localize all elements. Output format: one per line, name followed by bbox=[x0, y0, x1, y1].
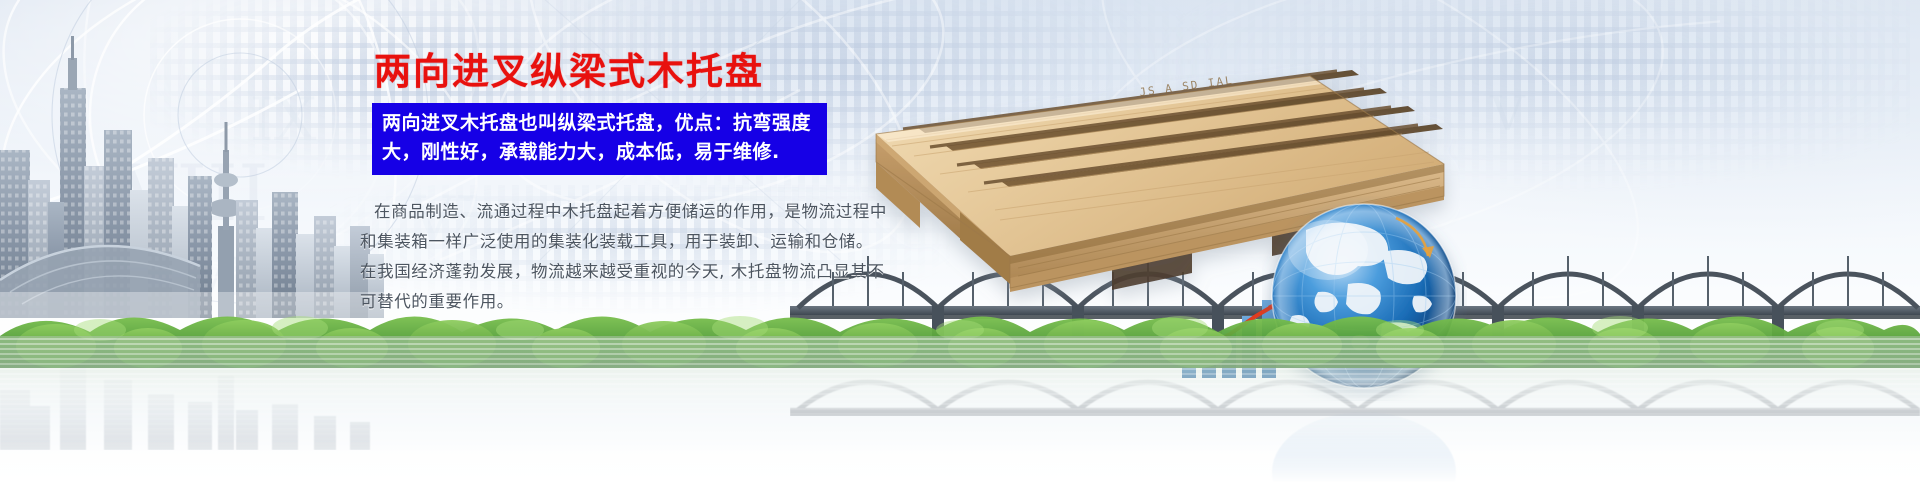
svg-text:V: V bbox=[1489, 86, 1526, 142]
product-banner: VIII IX VII VI IV bbox=[0, 0, 1920, 500]
highlight-line-2: 大，刚性好，承载能力大，成本低，易于维修. bbox=[382, 138, 817, 167]
body-line-2: 和集装箱一样广泛使用的集装化装载工具，用于装卸、运输和仓储。 bbox=[360, 227, 850, 257]
water-reflection-graphic bbox=[0, 336, 1920, 500]
highlight-callout-box: 两向进叉木托盘也叫纵梁式托盘，优点：抗弯强度 大，刚性好，承载能力大，成本低，易… bbox=[372, 103, 827, 175]
body-line-1: 在商品制造、流通过程中木托盘起着方便储运的作用，是物流过程中 bbox=[360, 197, 850, 227]
city-skyline-graphic bbox=[0, 30, 420, 330]
body-line-3: 在我国经济蓬勃发展，物流越来越受重视的今天, 木托盘物流凸显其不 bbox=[360, 257, 850, 287]
highlight-line-1: 两向进叉木托盘也叫纵梁式托盘，优点：抗弯强度 bbox=[382, 109, 817, 138]
banner-text-block: 两向进叉纵梁式木托盘 两向进叉木托盘也叫纵梁式托盘，优点：抗弯强度 大，刚性好，… bbox=[360, 52, 860, 317]
body-copy: 在商品制造、流通过程中木托盘起着方便储运的作用，是物流过程中 和集装箱一样广泛使… bbox=[360, 197, 850, 317]
body-line-4: 可替代的重要作用。 bbox=[360, 287, 850, 317]
page-title: 两向进叉纵梁式木托盘 bbox=[360, 52, 860, 93]
